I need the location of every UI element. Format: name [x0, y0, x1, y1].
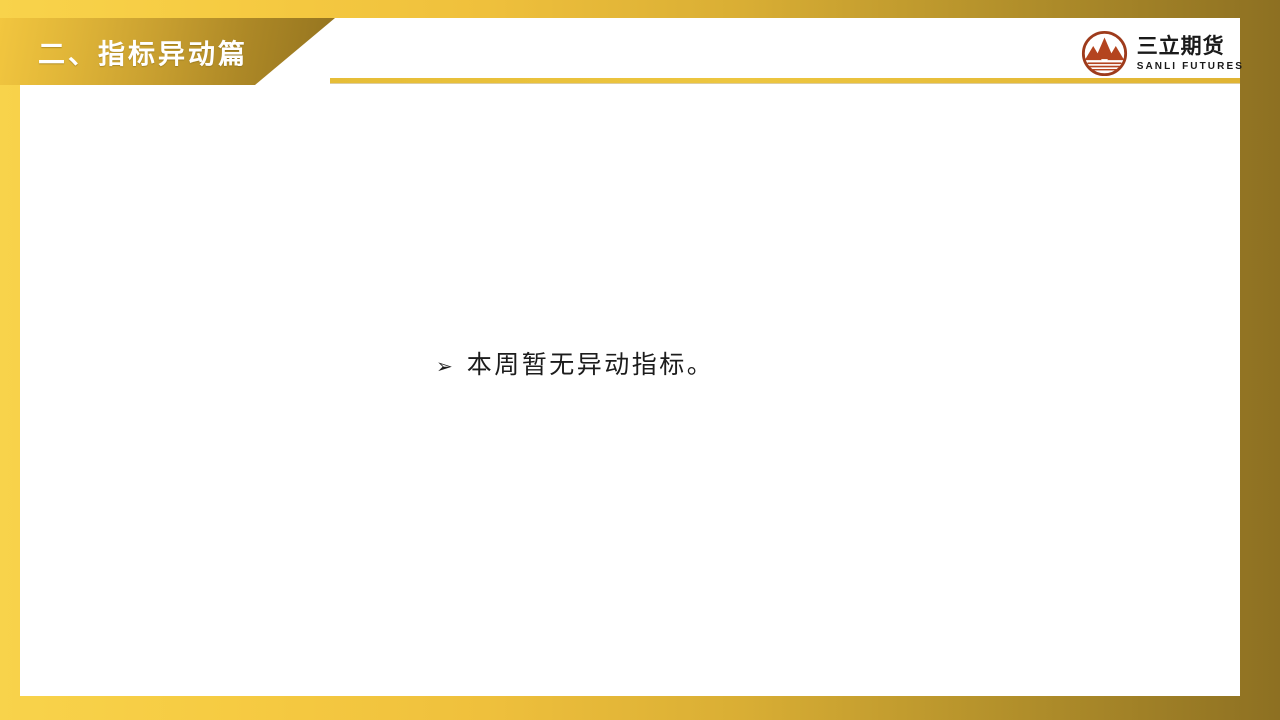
- page-title: 二、指标异动篇: [38, 32, 248, 71]
- header-divider-shadow: [330, 83, 1240, 84]
- brand-wordmark: 三立期货 SANLI FUTURES: [1137, 36, 1244, 72]
- bullet-text: 本周暂无异动指标。: [467, 353, 715, 378]
- arrow-bullet-icon: ➢: [436, 356, 453, 376]
- bullet-list-item: ➢ 本周暂无异动指标。: [436, 353, 714, 378]
- brand-name-en: SANLI FUTURES: [1137, 62, 1244, 72]
- slide-root: 二、指标异动篇 三立期货 SANLI FUTURES ➢ 本周暂无异动指标。: [0, 0, 1280, 720]
- three-peaks-circle-logo-icon: [1081, 30, 1128, 77]
- slide-body: ➢ 本周暂无异动指标。: [20, 85, 1240, 696]
- brand-logo: 三立期货 SANLI FUTURES: [1081, 30, 1244, 77]
- brand-name-cn: 三立期货: [1137, 36, 1244, 57]
